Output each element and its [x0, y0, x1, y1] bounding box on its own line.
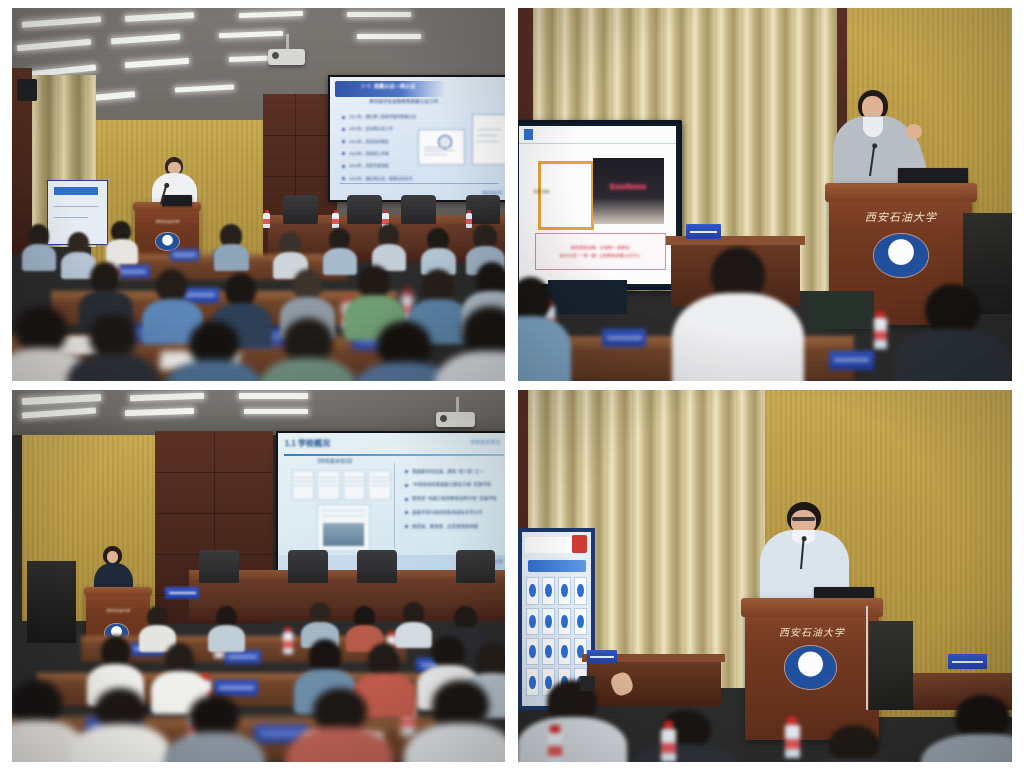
emblem-mark: XY [799, 660, 821, 676]
slide-red-callout: 服务国家战略、区域和一流建设 助力打造 "一带一路" 工程教育质量认证中心 [535, 233, 666, 270]
water-bottle-icon [661, 729, 676, 762]
slide-title-chip [524, 129, 533, 140]
ceiling-light [357, 34, 421, 39]
audience-member [76, 314, 150, 381]
poster-cell [542, 638, 555, 665]
wall-seam [263, 135, 337, 136]
slide-red-line: 服务国家战略、区域和一流建设 [571, 245, 630, 251]
slide-subtitle: 来华留学生高等教育质量认证工作 [369, 99, 438, 105]
conference-chair [347, 195, 382, 225]
poster-stand-line [54, 206, 98, 207]
certificate-thumbnail-2 [472, 114, 505, 165]
audience-member [903, 284, 1002, 381]
slide-orange-frame [538, 161, 594, 230]
av-rack [809, 291, 873, 328]
slide-thumbnail [368, 470, 391, 500]
nameplate-icon [602, 329, 646, 348]
certificate-thumbnail [418, 129, 465, 165]
poster-cell [526, 608, 539, 635]
slide-surface: （一）质量认证—再认证 来华留学生高等教育质量认证工作 2017年，通过第二批来… [330, 77, 505, 200]
ceiling-light [239, 393, 308, 399]
slide-bullet: 2022年，完成专家进校 [342, 163, 389, 169]
slide-bullet-text: 2021年，启动再认证工作 [349, 126, 393, 132]
poster-cell [542, 608, 555, 635]
slide-bullet-text: 2022年，通过再认证，获得认证证书 [349, 176, 412, 182]
slide-thumbnail [317, 470, 340, 500]
poster-icon-grid [526, 577, 587, 696]
speaker-collar [863, 117, 883, 136]
poster-title-band [528, 560, 586, 572]
ceiling-light [244, 409, 308, 415]
photo-top-right[interactable]: 培养目标 Excellence 服务国家战略、区域和一流建设 助力打造 "一带一… [518, 8, 1012, 381]
equipment-case [869, 621, 913, 710]
university-emblem-icon: XY [785, 646, 836, 688]
slide-bullet-text: 2021年，完成自评报告 [349, 139, 389, 145]
poster-cell [558, 638, 571, 665]
podium-name-label: 西安石油大学 [745, 624, 878, 639]
audience-member [175, 321, 254, 381]
power-cable [866, 606, 868, 710]
slide-bullet-text: 2017年，通过第二批来华留学质量认证 [349, 114, 416, 120]
nameplate-icon [224, 650, 261, 663]
slide-header-label: （一）质量认证—再认证 [358, 83, 415, 90]
conference-chair [288, 550, 327, 583]
slide-bullet: 国家环境污染控制及资源化水平大学 [405, 510, 482, 516]
audience-member [446, 306, 505, 381]
photo-bottom-right[interactable]: 西安石油大学 XY [518, 390, 1012, 762]
audience-member [809, 725, 898, 762]
poster-cell [558, 577, 571, 604]
water-bottle-icon [332, 213, 339, 228]
audience-member [268, 318, 347, 381]
projector-icon [268, 49, 305, 65]
ceiling-light [347, 12, 411, 17]
laptop-icon [162, 195, 192, 206]
audience-member [106, 221, 138, 262]
emblem-mark: XY [163, 239, 171, 244]
water-bottle-icon [548, 732, 563, 762]
audience-member [416, 680, 505, 762]
emblem-mark: XY [889, 248, 913, 264]
slide-title-rule [284, 454, 504, 456]
slide-red-line: 助力打造 "一带一路" 工程教育质量认证中心 [560, 253, 641, 259]
flat-panel-display[interactable]: 培养目标 Excellence 服务国家战略、区域和一流建设 助力打造 "一带一… [518, 120, 682, 290]
podium-name-label: 西安石油大学 [829, 209, 972, 225]
wall-speaker-icon [17, 79, 37, 101]
poster-cell [574, 577, 587, 604]
slide-photo-caption: Excellence [599, 184, 658, 199]
slide-divider [394, 463, 395, 548]
slide-photo: Excellence [593, 158, 664, 224]
poster-stand-line [54, 217, 89, 218]
photo-top-left[interactable]: （一）质量认证—再认证 来华留学生高等教育质量认证工作 2017年，通过第二批来… [12, 8, 505, 381]
projector-mount [286, 34, 289, 49]
poster-cell [558, 608, 571, 635]
nameplate-icon [214, 680, 258, 696]
water-bottle-icon [785, 725, 800, 758]
audience-member [214, 224, 249, 269]
podium-name-label: 西安石油大学 [135, 219, 199, 225]
audience-member [681, 247, 795, 381]
podium: 西安石油大学 XY [745, 598, 878, 739]
slide-bullet-text: 2022年，完成线上评审 [349, 151, 389, 157]
slide-caption: 【学校基本情况】 [315, 458, 355, 465]
projector-mount [456, 397, 459, 412]
poster-red-tag [572, 535, 587, 552]
slide-bullet: 2017年，通过第二批来华留学质量认证 [342, 114, 416, 120]
slide-bullet-text: 国家环境污染控制及资源化水平大学 [412, 510, 482, 516]
nameplate-icon [165, 587, 200, 599]
conference-chair [456, 550, 495, 583]
slide-thumbnail [343, 470, 366, 500]
poster-cell [574, 608, 587, 635]
poster-stand-band [54, 187, 98, 195]
nameplate-icon [829, 351, 873, 370]
slide-bullet: 教育部 "卓越工程师教育培养计划" 实施学校 [405, 496, 497, 502]
wall-seam [263, 176, 337, 177]
slide-footer-rule [340, 183, 498, 184]
slide-bullet: 我国最早的石油、建筑 "老八校" 之一 [405, 469, 483, 475]
slide-top-right-label: 学校基本情况 [470, 439, 500, 446]
glasses-icon [792, 517, 815, 521]
projection-screen[interactable]: （一）质量认证—再认证 来华留学生高等教育质量认证工作 2017年，通过第二批来… [328, 75, 505, 202]
nameplate-icon [587, 650, 617, 663]
water-bottle-icon [283, 632, 293, 654]
conference-chair [283, 195, 318, 225]
phone-icon [580, 676, 595, 691]
nameplate-icon [948, 654, 988, 669]
audience-member [421, 228, 456, 273]
slide-detail-card [317, 504, 370, 550]
photo-collage: （一）质量认证—再认证 来华留学生高等教育质量认证工作 2017年，通过第二批来… [0, 0, 1024, 768]
slide-bullet: 2022年，完成线上评审 [342, 151, 389, 157]
projector-icon [436, 412, 475, 427]
slide-bullet-text: 陕西省、教育部、应急管理部共建 [412, 524, 478, 530]
nameplate-icon [170, 249, 200, 261]
audience-member [933, 695, 1012, 762]
water-bottle-icon [874, 318, 887, 350]
av-cabinet [27, 561, 76, 643]
wall-seam [155, 472, 273, 473]
slide-bullet: 2022年，通过再认证，获得认证证书 [342, 176, 412, 182]
nameplate-icon [686, 224, 721, 239]
podium-top [741, 598, 882, 616]
slide-bullet-text: "中西部高校基础能力建设工程" 实施学校 [412, 482, 491, 488]
audience-member [362, 321, 446, 381]
slide-thumbnail [292, 470, 315, 500]
audience-member [528, 680, 617, 762]
slide-bullet-text: 教育部 "卓越工程师教育培养计划" 实施学校 [412, 496, 497, 502]
speaker-hand [906, 124, 922, 139]
slide-left-label: 培养目标 [533, 189, 550, 195]
conference-chair [357, 550, 396, 583]
slide-bullet: 2021年，完成自评报告 [342, 139, 389, 145]
photo-bottom-left[interactable]: 1.1 学校概况 学校基本情况 【学校基本情况】 [12, 390, 505, 762]
display-screen: 培养目标 Excellence 服务国家战略、区域和一流建设 助力打造 "一带一… [519, 126, 676, 284]
slide-titlebar [519, 126, 676, 144]
audience-member [22, 224, 57, 269]
slide-bullet-text: 2022年，完成专家进校 [349, 163, 389, 169]
poster-cell [526, 638, 539, 665]
audience-member [372, 224, 407, 269]
water-bottle-icon [263, 213, 270, 228]
conference-chair [199, 550, 238, 583]
slide-title: 1.1 学校概况 [285, 438, 330, 449]
audience-member [298, 688, 382, 762]
slide-bullet: 2021年，启动再认证工作 [342, 126, 393, 132]
slide-bullet: "中西部高校基础能力建设工程" 实施学校 [405, 482, 491, 488]
poster-cell [542, 577, 555, 604]
conference-chair [401, 195, 436, 225]
podium-top [825, 183, 977, 201]
poster-cell [526, 577, 539, 604]
university-emblem-icon: XY [874, 234, 928, 277]
university-emblem-icon: XY [156, 233, 179, 250]
audience-member [12, 680, 76, 762]
audience-member [81, 688, 160, 762]
audience-member [642, 710, 731, 762]
audience-member [518, 277, 562, 381]
podium-top [84, 587, 152, 596]
audience-member [175, 695, 254, 762]
wall-seam [155, 513, 273, 514]
slide-bullet-text: 我国最早的石油、建筑 "老八校" 之一 [412, 469, 483, 475]
slide-bullet: 陕西省、教育部、应急管理部共建 [405, 524, 478, 530]
audience-member [209, 606, 244, 651]
